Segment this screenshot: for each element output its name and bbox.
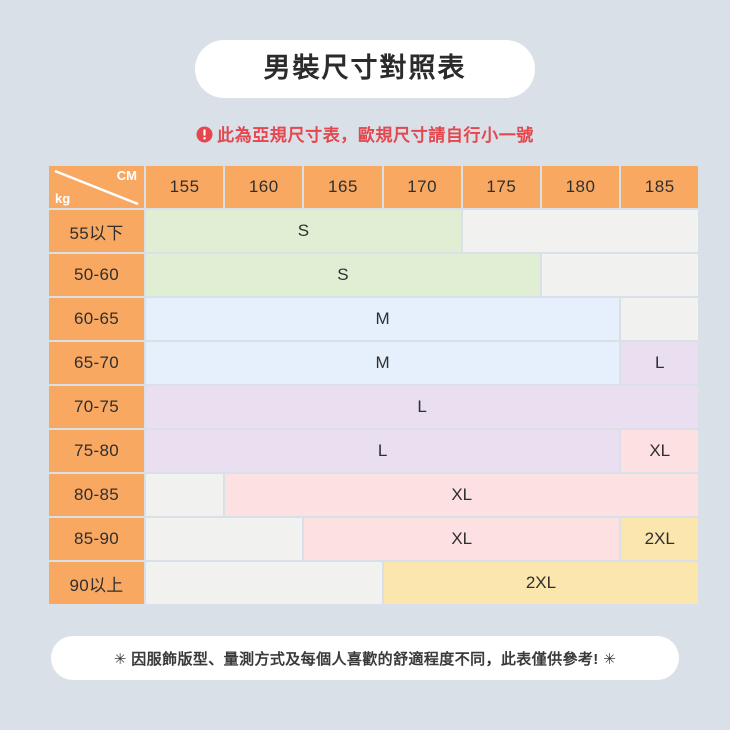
- table-row: 70-75L: [49, 386, 698, 428]
- row-header-weight: 90以上: [49, 562, 144, 604]
- size-cell-empty: [621, 298, 698, 340]
- table-header: CM kg 155 160 165 170 175 180 185: [49, 166, 698, 208]
- column-header-160: 160: [225, 166, 302, 208]
- table-row: 80-85XL: [49, 474, 698, 516]
- size-chart-page: 男裝尺寸對照表 此為亞規尺寸表，歐規尺寸請自行小一號: [0, 0, 730, 730]
- row-header-weight: 80-85: [49, 474, 144, 516]
- row-header-weight: 85-90: [49, 518, 144, 560]
- size-table-wrapper: CM kg 155 160 165 170 175 180 185 55以下S5…: [47, 164, 683, 606]
- warning-text: 此為亞規尺寸表，歐規尺寸請自行小一號: [217, 121, 534, 146]
- table-row: 65-70ML: [49, 342, 698, 384]
- size-cell-l: L: [146, 430, 619, 472]
- size-cell-xl: XL: [225, 474, 698, 516]
- column-header-180: 180: [542, 166, 619, 208]
- size-chart-table: CM kg 155 160 165 170 175 180 185 55以下S5…: [47, 164, 700, 606]
- size-cell-empty: [542, 254, 698, 296]
- corner-label-cm: CM: [117, 168, 137, 183]
- page-title-pill: 男裝尺寸對照表: [195, 40, 535, 98]
- size-cell-s: S: [146, 210, 461, 252]
- table-row: 85-90XL2XL: [49, 518, 698, 560]
- size-cell-empty: [146, 562, 382, 604]
- page-title: 男裝尺寸對照表: [243, 52, 487, 84]
- table-body: 55以下S50-60S60-65M65-70ML70-75L75-80LXL80…: [49, 210, 698, 604]
- column-header-175: 175: [463, 166, 540, 208]
- row-header-weight: 55以下: [49, 210, 144, 252]
- exclamation-circle-icon: [196, 126, 213, 143]
- size-cell-2xl: 2XL: [621, 518, 698, 560]
- size-cell-l: L: [146, 386, 698, 428]
- footer-note-pill: ✳ 因服飾版型、量測方式及每個人喜歡的舒適程度不同，此表僅供參考! ✳: [51, 636, 679, 680]
- size-cell-m: M: [146, 298, 619, 340]
- table-row: 90以上2XL: [49, 562, 698, 604]
- size-cell-xl: XL: [304, 518, 619, 560]
- row-header-weight: 60-65: [49, 298, 144, 340]
- size-cell-l: L: [621, 342, 698, 384]
- size-cell-m: M: [146, 342, 619, 384]
- corner-label-kg: kg: [55, 191, 70, 206]
- warning-banner: 此為亞規尺寸表，歐規尺寸請自行小一號: [196, 121, 534, 146]
- column-header-185: 185: [621, 166, 698, 208]
- footer-note: ✳ 因服飾版型、量測方式及每個人喜歡的舒適程度不同，此表僅供參考! ✳: [114, 648, 616, 669]
- column-header-170: 170: [384, 166, 461, 208]
- corner-cell-cm-kg: CM kg: [49, 166, 144, 208]
- row-header-weight: 70-75: [49, 386, 144, 428]
- table-row: 75-80LXL: [49, 430, 698, 472]
- size-cell-2xl: 2XL: [384, 562, 699, 604]
- size-cell-empty: [146, 474, 223, 516]
- table-row: 60-65M: [49, 298, 698, 340]
- table-row: 55以下S: [49, 210, 698, 252]
- table-row: 50-60S: [49, 254, 698, 296]
- column-header-155: 155: [146, 166, 223, 208]
- size-cell-s: S: [146, 254, 540, 296]
- column-header-165: 165: [304, 166, 381, 208]
- size-cell-empty: [146, 518, 302, 560]
- size-cell-empty: [463, 210, 699, 252]
- row-header-weight: 65-70: [49, 342, 144, 384]
- table-header-row: CM kg 155 160 165 170 175 180 185: [49, 166, 698, 208]
- row-header-weight: 75-80: [49, 430, 144, 472]
- size-cell-xl: XL: [621, 430, 698, 472]
- row-header-weight: 50-60: [49, 254, 144, 296]
